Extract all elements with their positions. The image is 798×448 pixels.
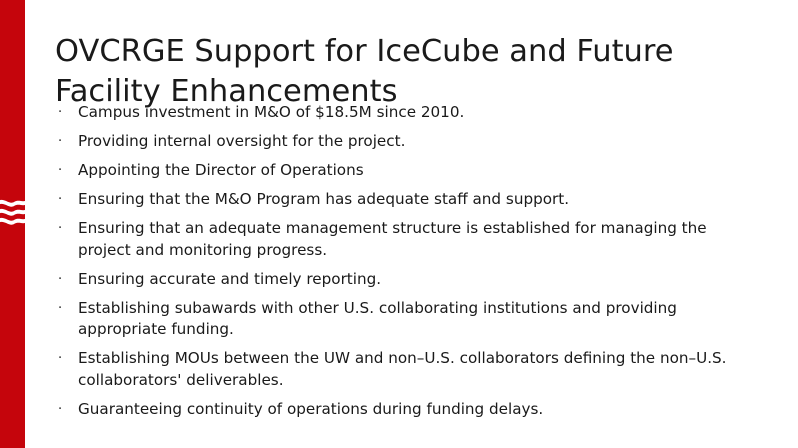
- list-item: · Providing internal oversight for the p…: [58, 131, 758, 153]
- bullet-list: · Campus investment in M&O of $18.5M sin…: [58, 102, 758, 428]
- bullet-marker-icon: ·: [58, 348, 78, 370]
- list-item-text: Establishing MOUs between the UW and non…: [78, 348, 758, 391]
- list-item: · Establishing subawards with other U.S.…: [58, 298, 758, 341]
- list-item-text: Guaranteeing continuity of operations du…: [78, 399, 758, 421]
- left-accent-bar: [0, 0, 25, 448]
- list-item: · Establishing MOUs between the UW and n…: [58, 348, 758, 391]
- list-item: · Appointing the Director of Operations: [58, 160, 758, 182]
- bullet-marker-icon: ·: [58, 189, 78, 211]
- list-item: · Ensuring that the M&O Program has adeq…: [58, 189, 758, 211]
- list-item-text: Ensuring that the M&O Program has adequa…: [78, 189, 758, 211]
- bullet-marker-icon: ·: [58, 298, 78, 320]
- list-item-text: Ensuring accurate and timely reporting.: [78, 269, 758, 291]
- wave-stripes-decoration: [0, 194, 25, 230]
- list-item-text: Appointing the Director of Operations: [78, 160, 758, 182]
- list-item: · Ensuring that an adequate management s…: [58, 218, 758, 261]
- bullet-marker-icon: ·: [58, 269, 78, 291]
- list-item: · Guaranteeing continuity of operations …: [58, 399, 758, 421]
- slide-canvas: OVCRGE Support for IceCube and Future Fa…: [0, 0, 798, 448]
- bullet-marker-icon: ·: [58, 399, 78, 421]
- list-item-text: Campus investment in M&O of $18.5M since…: [78, 102, 758, 124]
- list-item-text: Establishing subawards with other U.S. c…: [78, 298, 758, 341]
- bullet-marker-icon: ·: [58, 102, 78, 124]
- list-item: · Campus investment in M&O of $18.5M sin…: [58, 102, 758, 124]
- list-item: · Ensuring accurate and timely reporting…: [58, 269, 758, 291]
- slide-title: OVCRGE Support for IceCube and Future Fa…: [55, 32, 755, 112]
- list-item-text: Ensuring that an adequate management str…: [78, 218, 758, 261]
- list-item-text: Providing internal oversight for the pro…: [78, 131, 758, 153]
- bullet-marker-icon: ·: [58, 131, 78, 153]
- bullet-marker-icon: ·: [58, 160, 78, 182]
- bullet-marker-icon: ·: [58, 218, 78, 240]
